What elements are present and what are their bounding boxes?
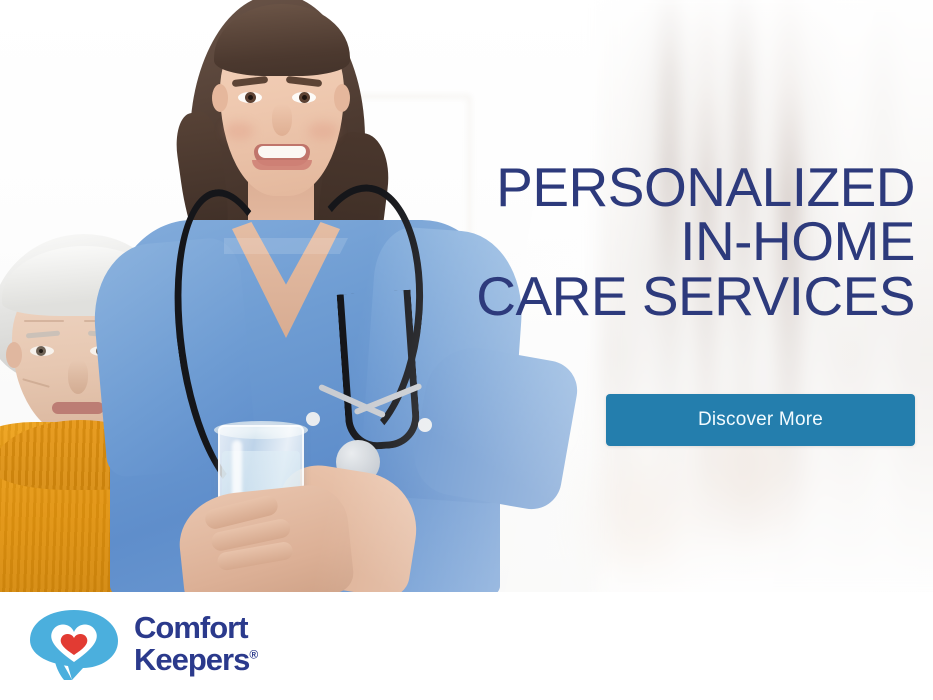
- elderly-eye-left: [30, 346, 54, 356]
- comfort-keepers-logo[interactable]: Comfort Keepers®: [28, 608, 257, 680]
- headline-line-2: IN-HOME: [355, 214, 915, 268]
- page-title: PERSONALIZED IN-HOME CARE SERVICES: [355, 160, 915, 323]
- headline-line-3: CARE SERVICES: [355, 269, 915, 323]
- stethoscope-eartip-b: [418, 418, 432, 432]
- logo-word-keepers: Keepers®: [134, 644, 257, 676]
- registered-mark: ®: [249, 648, 257, 662]
- elderly-mouth: [52, 402, 104, 414]
- footer-bar: Comfort Keepers® www.comfortkeepers.com: [0, 592, 933, 700]
- marketing-banner: PERSONALIZED IN-HOME CARE SERVICES Disco…: [0, 0, 933, 700]
- elderly-ear-left: [6, 342, 22, 368]
- discover-more-button[interactable]: Discover More: [606, 394, 915, 446]
- comfort-keepers-heart-logo-icon: [28, 608, 120, 680]
- elderly-nose: [68, 360, 88, 394]
- headline-line-1: PERSONALIZED: [355, 160, 915, 214]
- logo-word-comfort: Comfort: [134, 612, 257, 644]
- stethoscope-eartip-a: [306, 412, 320, 426]
- logo-wordmark: Comfort Keepers®: [134, 612, 257, 676]
